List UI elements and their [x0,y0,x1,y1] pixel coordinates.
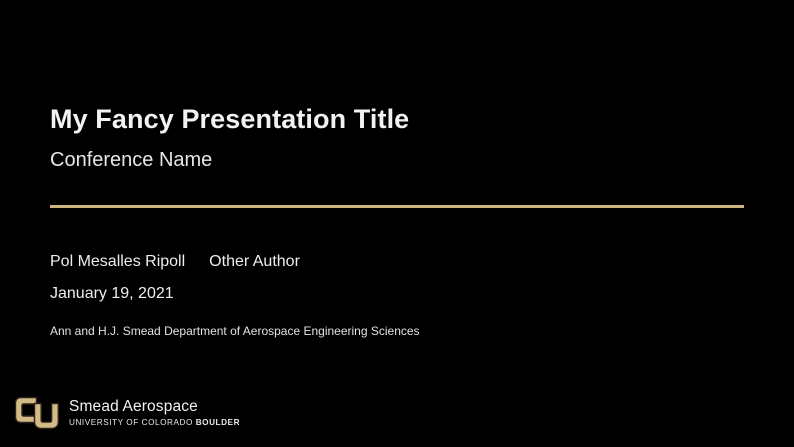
logo-wordmark: Smead Aerospace UNIVERSITY OF COLORADO B… [69,399,240,428]
slide-subtitle: Conference Name [50,148,750,172]
logo-lockup: Smead Aerospace UNIVERSITY OF COLORADO B… [14,393,240,433]
divider-rule [50,205,744,208]
logo-tagline-university: UNIVERSITY OF COLORADO [69,418,193,427]
author-name: Pol Mesalles Ripoll [50,252,185,272]
logo-unit-name: Smead Aerospace [69,399,240,415]
page-title: My Fancy Presentation Title [50,104,750,134]
logo-tagline: UNIVERSITY OF COLORADO BOULDER [69,419,240,427]
logo-tagline-boulder: BOULDER [196,418,240,427]
author-name: Other Author [209,252,300,272]
institution-name: Ann and H.J. Smead Department of Aerospa… [50,324,750,339]
author-list: Pol Mesalles RipollOther Author [50,252,750,272]
meta-block: Pol Mesalles RipollOther Author January … [50,252,750,339]
presentation-date: January 19, 2021 [50,284,750,304]
cu-monogram-icon [14,393,60,433]
title-block: My Fancy Presentation Title Conference N… [50,104,750,172]
title-slide: My Fancy Presentation Title Conference N… [0,0,794,447]
